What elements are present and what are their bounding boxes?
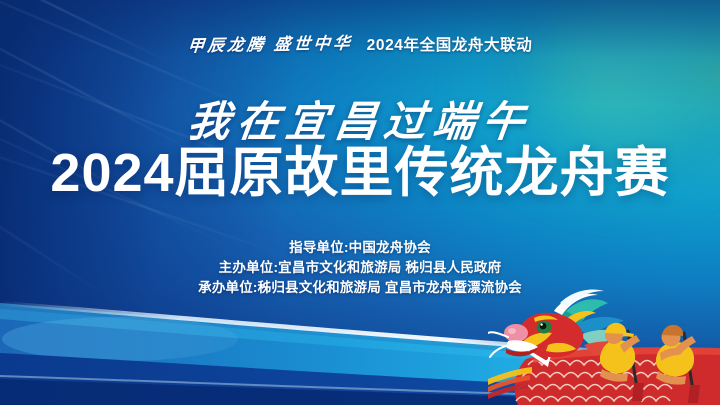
credit-line-3: 承办单位:秭归县文化和旅游局 宜昌市龙舟暨漂流协会 [0,278,720,298]
kicker-subtitle: 2024年全国龙舟大联动 [367,33,533,55]
headline-main: 2024屈原故里传统龙舟赛 [0,144,720,202]
poster-text: 甲辰龙腾 盛世中华 2024年全国龙舟大联动 我在宜昌过端午 2024屈原故里传… [0,0,720,405]
headline-brush: 我在宜昌过端午 [0,88,720,149]
kicker-row: 甲辰龙腾 盛世中华 2024年全国龙舟大联动 [0,31,720,55]
kicker-calligraphy: 甲辰龙腾 盛世中华 [186,30,353,57]
credit-line-1: 指导单位:中国龙舟协会 [0,238,720,258]
credits-block: 指导单位:中国龙舟协会主办单位:宜昌市文化和旅游局 秭归县人民政府承办单位:秭归… [0,238,720,298]
credit-line-2: 主办单位:宜昌市文化和旅游局 秭归县人民政府 [0,258,720,278]
poster-canvas: 甲辰龙腾 盛世中华 2024年全国龙舟大联动 我在宜昌过端午 2024屈原故里传… [0,0,720,405]
